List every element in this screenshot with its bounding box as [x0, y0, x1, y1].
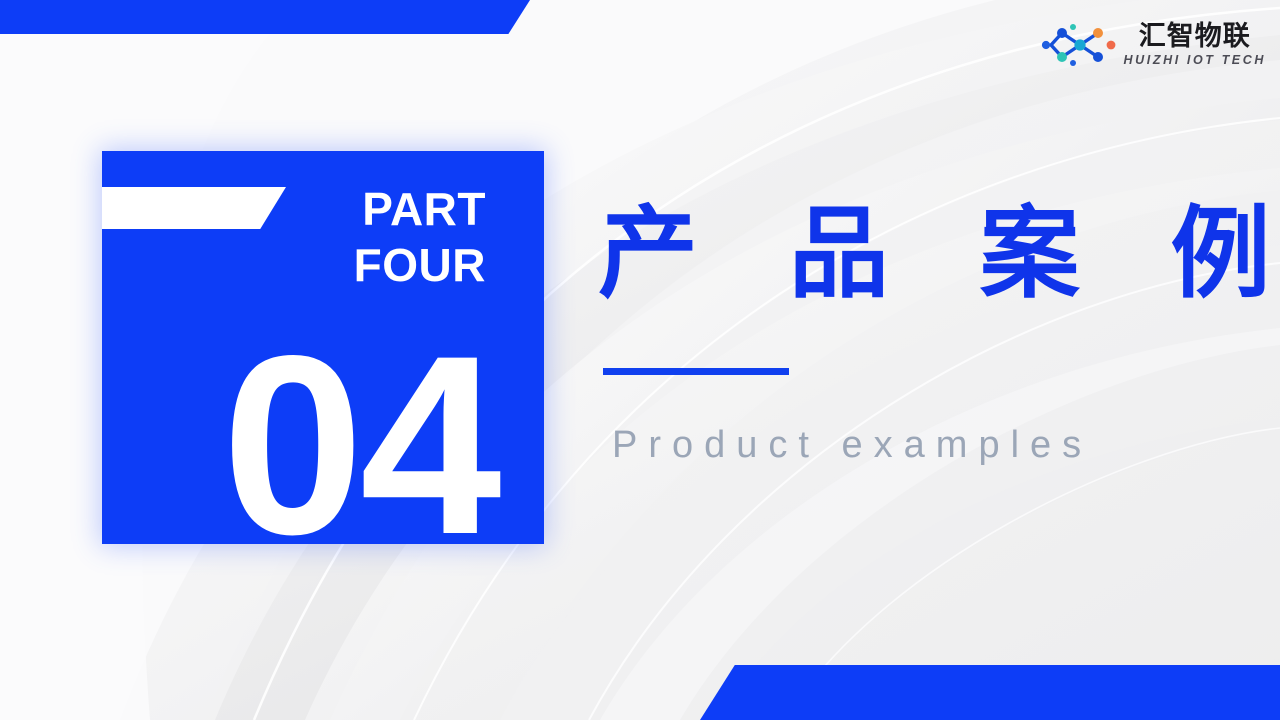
part-block: PART FOUR 04: [102, 151, 544, 544]
page-subtitle: Product examples: [612, 424, 1092, 467]
slide-root: PART FOUR 04 产 品 案 例 Product examples: [0, 0, 1280, 720]
page-title: 产 品 案 例: [598, 196, 1280, 311]
part-label-line-2: FOUR: [256, 237, 486, 293]
logo-name-en: HUIZHI IOT TECH: [1124, 54, 1266, 67]
brand-logo: 汇智物联 HUIZHI IOT TECH: [1040, 22, 1266, 68]
logo-text: 汇智物联 HUIZHI IOT TECH: [1124, 23, 1266, 67]
logo-name-cn: 汇智物联: [1139, 23, 1251, 50]
part-label: PART FOUR: [256, 181, 486, 293]
molecule-network-icon: [1040, 22, 1118, 68]
decoration-bar-bottom-right: [700, 665, 1280, 720]
part-label-line-1: PART: [256, 181, 486, 237]
title-underline-rule: [603, 368, 789, 375]
part-number: 04: [222, 327, 498, 564]
decoration-bar-top-left: [0, 0, 530, 34]
